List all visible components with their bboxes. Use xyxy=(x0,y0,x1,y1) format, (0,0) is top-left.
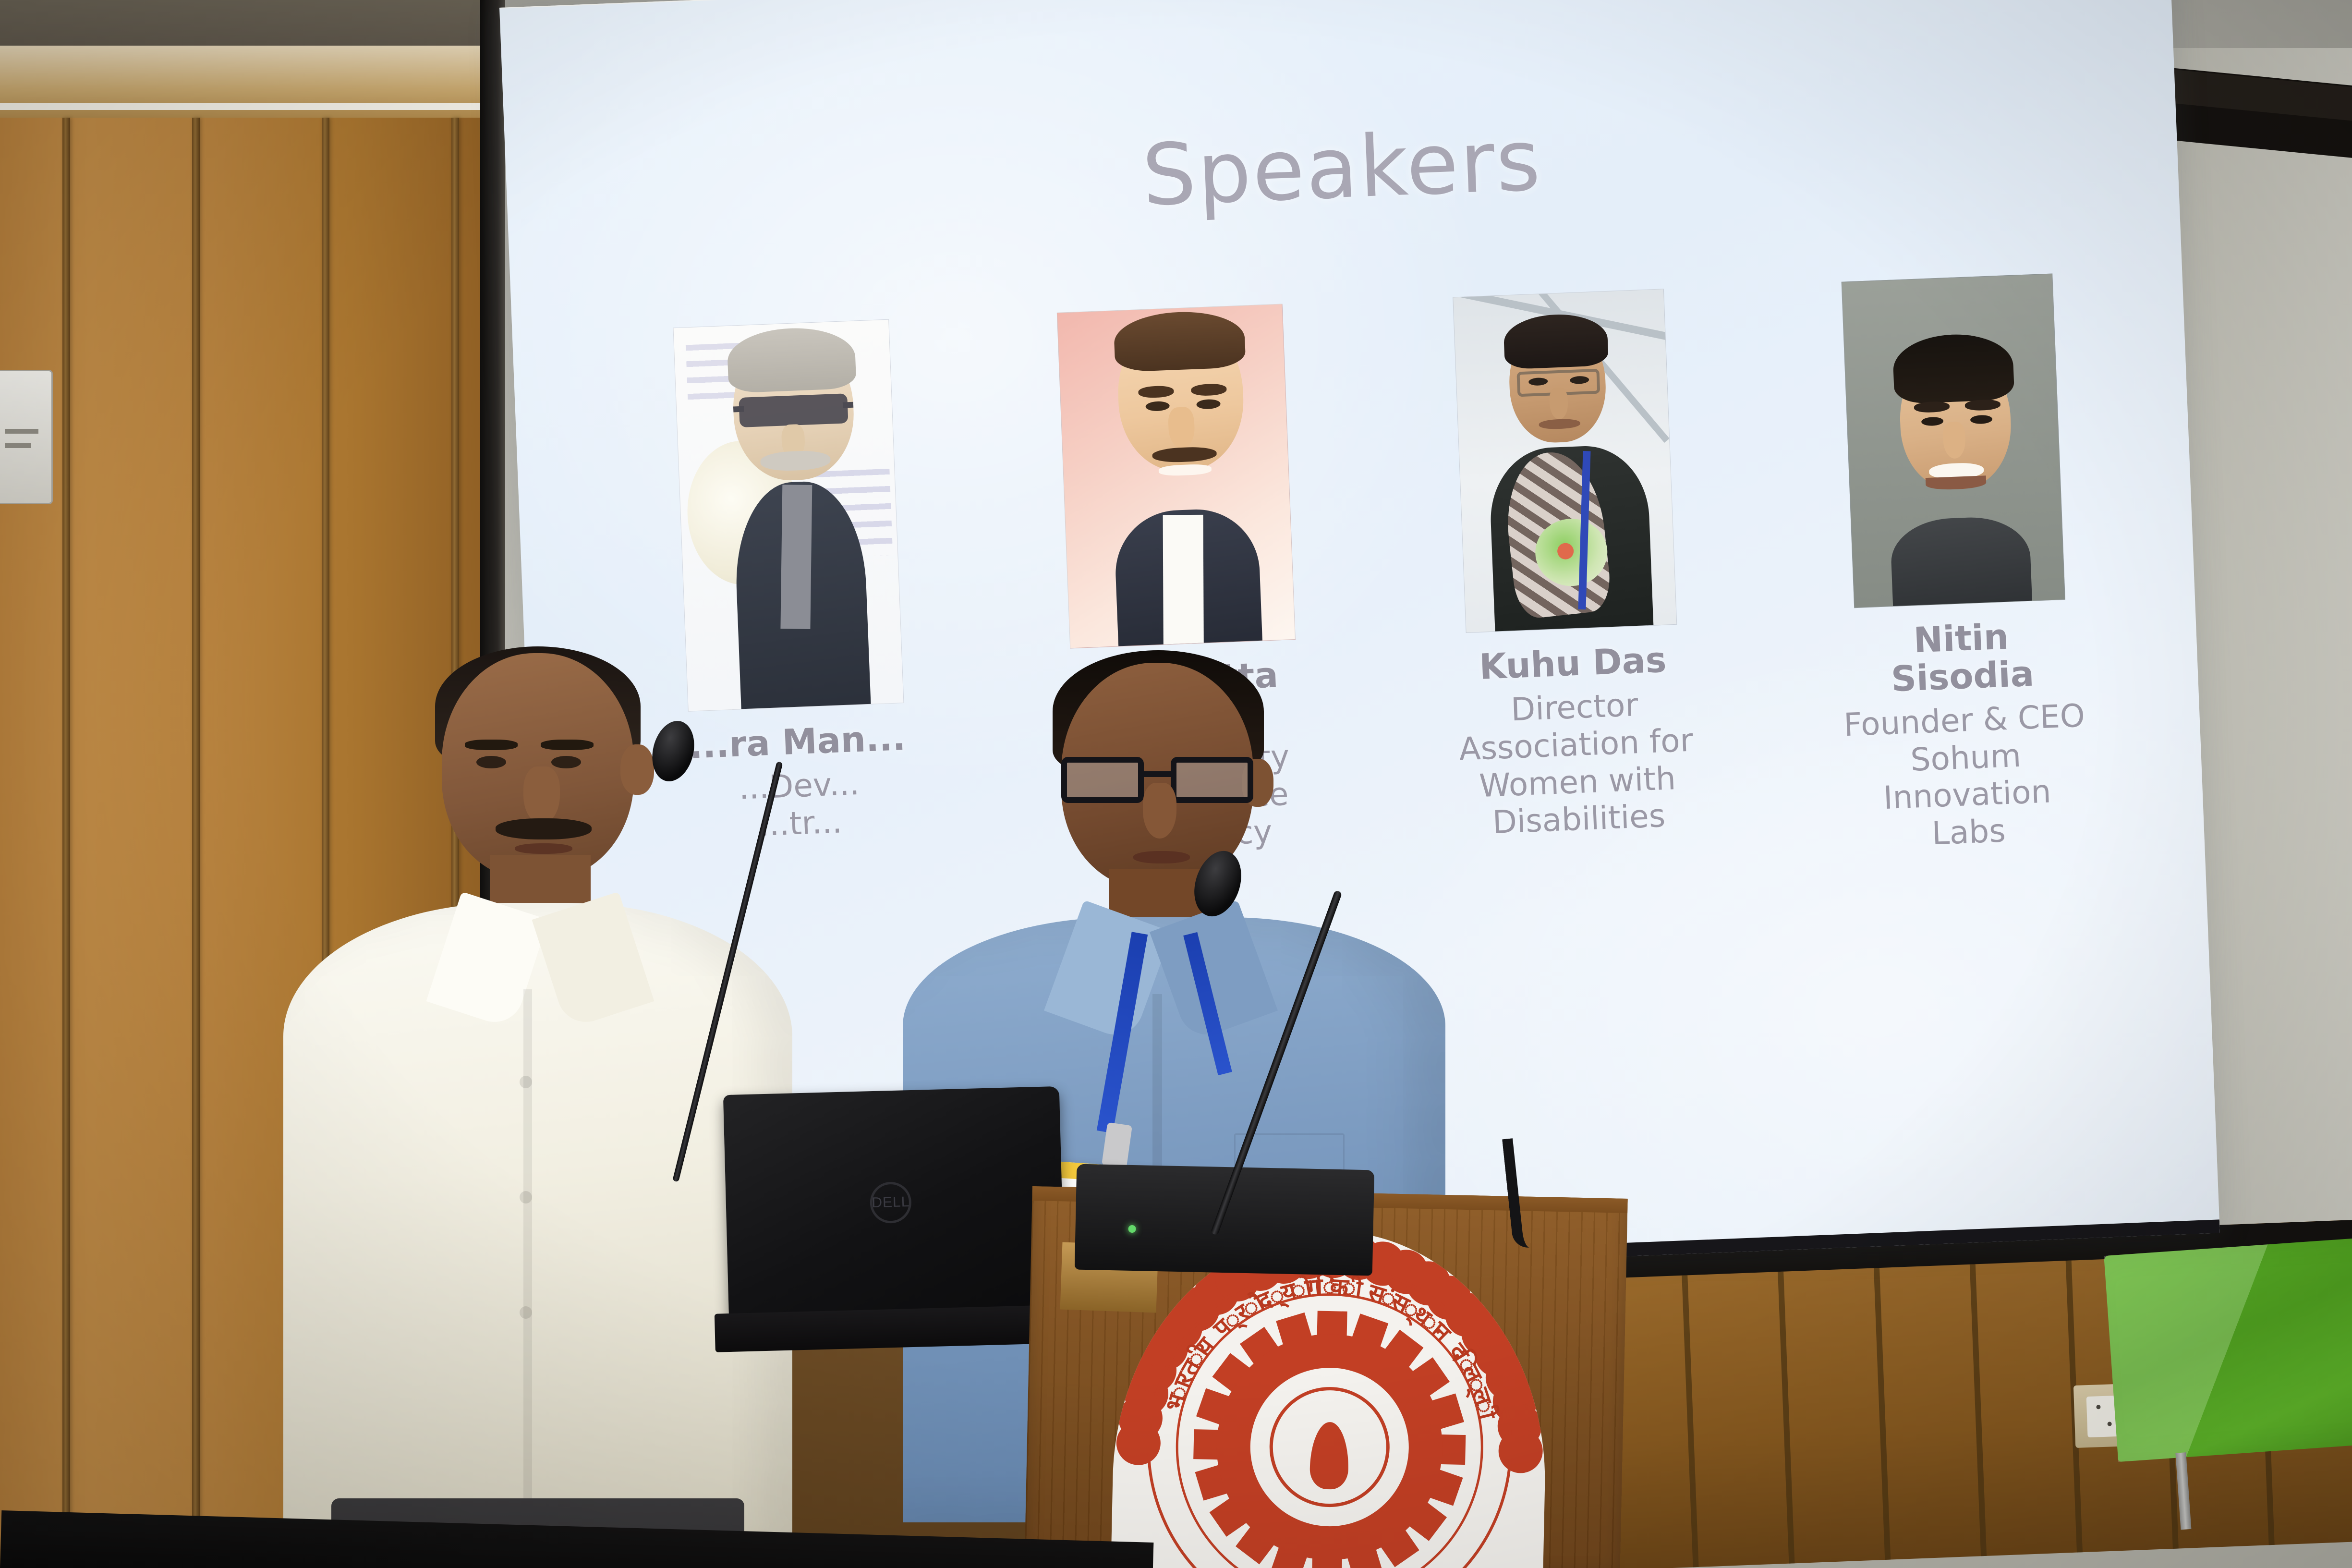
podium-console[interactable] xyxy=(1075,1164,1374,1276)
presenter-left xyxy=(298,653,788,1568)
iit-delhi-emblem: भारतीय प्रौद्योगिकी संस्थान दिल्ली xyxy=(1109,1227,1550,1568)
speaker-name-4: Nitin Sisodia xyxy=(1836,615,2088,701)
wall-sensor-box xyxy=(0,370,53,504)
wall-trim-highlight xyxy=(0,103,502,110)
scene-root: Speakers xyxy=(0,0,2352,1568)
chair-back-fold xyxy=(2104,1232,2352,1462)
speaker-role-3: Director Association for Women with Disa… xyxy=(1449,684,1705,843)
speaker-card-4: Nitin Sisodia Founder & CEO Sohum Innova… xyxy=(1822,273,2095,856)
status-led-icon xyxy=(1128,1225,1136,1233)
speaker-name-3: Kuhu Das xyxy=(1447,640,1698,688)
speaker-photo-2 xyxy=(1057,304,1296,648)
emblem-devanagari-text: भारतीय प्रौद्योगिकी संस्थान दिल्ली xyxy=(1109,1227,1550,1568)
green-chair[interactable] xyxy=(2104,1232,2352,1524)
slide-title: Speakers xyxy=(505,86,2179,250)
speaker-card-3: Kuhu Das Director Association for Women … xyxy=(1433,288,1704,843)
speaker-photo-3 xyxy=(1453,289,1677,633)
speaker-role-4: Founder & CEO Sohum Innovation Labs xyxy=(1839,697,2094,856)
screen-top-edge xyxy=(499,0,2169,9)
presenter-left-shirt xyxy=(283,903,792,1568)
speaker-photo-4 xyxy=(1842,273,2065,608)
